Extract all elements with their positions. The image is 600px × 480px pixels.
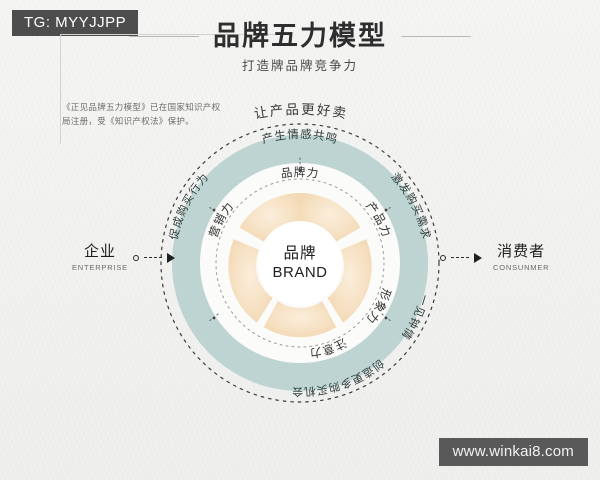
endpoint-consumer-text: 消费者 CONSUNMER	[493, 244, 549, 272]
enterprise-origin-dot-icon	[133, 255, 139, 261]
endpoint-enterprise-text: 企业 ENTERPRISE	[72, 244, 128, 272]
endpoint-consumer: 消费者 CONSUNMER	[440, 244, 549, 272]
brand-five-forces-diagram: 品牌 BRAND 品牌力 产品力 形象力 注意力 营销力 产生情感共鸣 激发购买…	[130, 118, 470, 408]
title-row: 品牌五力模型	[0, 22, 600, 50]
page-subtitle: 打造牌品牌竞争力	[0, 55, 600, 74]
endpoint-consumer-label-cn: 消费者	[497, 244, 545, 261]
enterprise-arrow-icon	[167, 253, 175, 263]
endpoint-enterprise-label-cn: 企业	[84, 244, 116, 261]
site-watermark: www.winkai8.com	[439, 438, 588, 466]
endpoint-enterprise-label-en: ENTERPRISE	[72, 263, 128, 272]
endpoint-consumer-label-en: CONSUNMER	[493, 263, 549, 272]
header: 品牌五力模型 打造牌品牌竞争力	[0, 22, 600, 82]
page-title: 品牌五力模型	[213, 22, 387, 50]
consumer-dashed-connector	[451, 257, 469, 258]
title-rule-right	[401, 36, 471, 37]
consumer-arrow-icon	[474, 253, 482, 263]
center-disk	[258, 221, 342, 305]
title-rule-left	[129, 36, 199, 37]
endpoint-enterprise: 企业 ENTERPRISE	[72, 244, 175, 272]
enterprise-dashed-connector	[144, 257, 162, 258]
consumer-origin-dot-icon	[440, 255, 446, 261]
center-label-en: BRAND	[272, 264, 327, 281]
center-label-cn: 品牌	[283, 244, 316, 262]
